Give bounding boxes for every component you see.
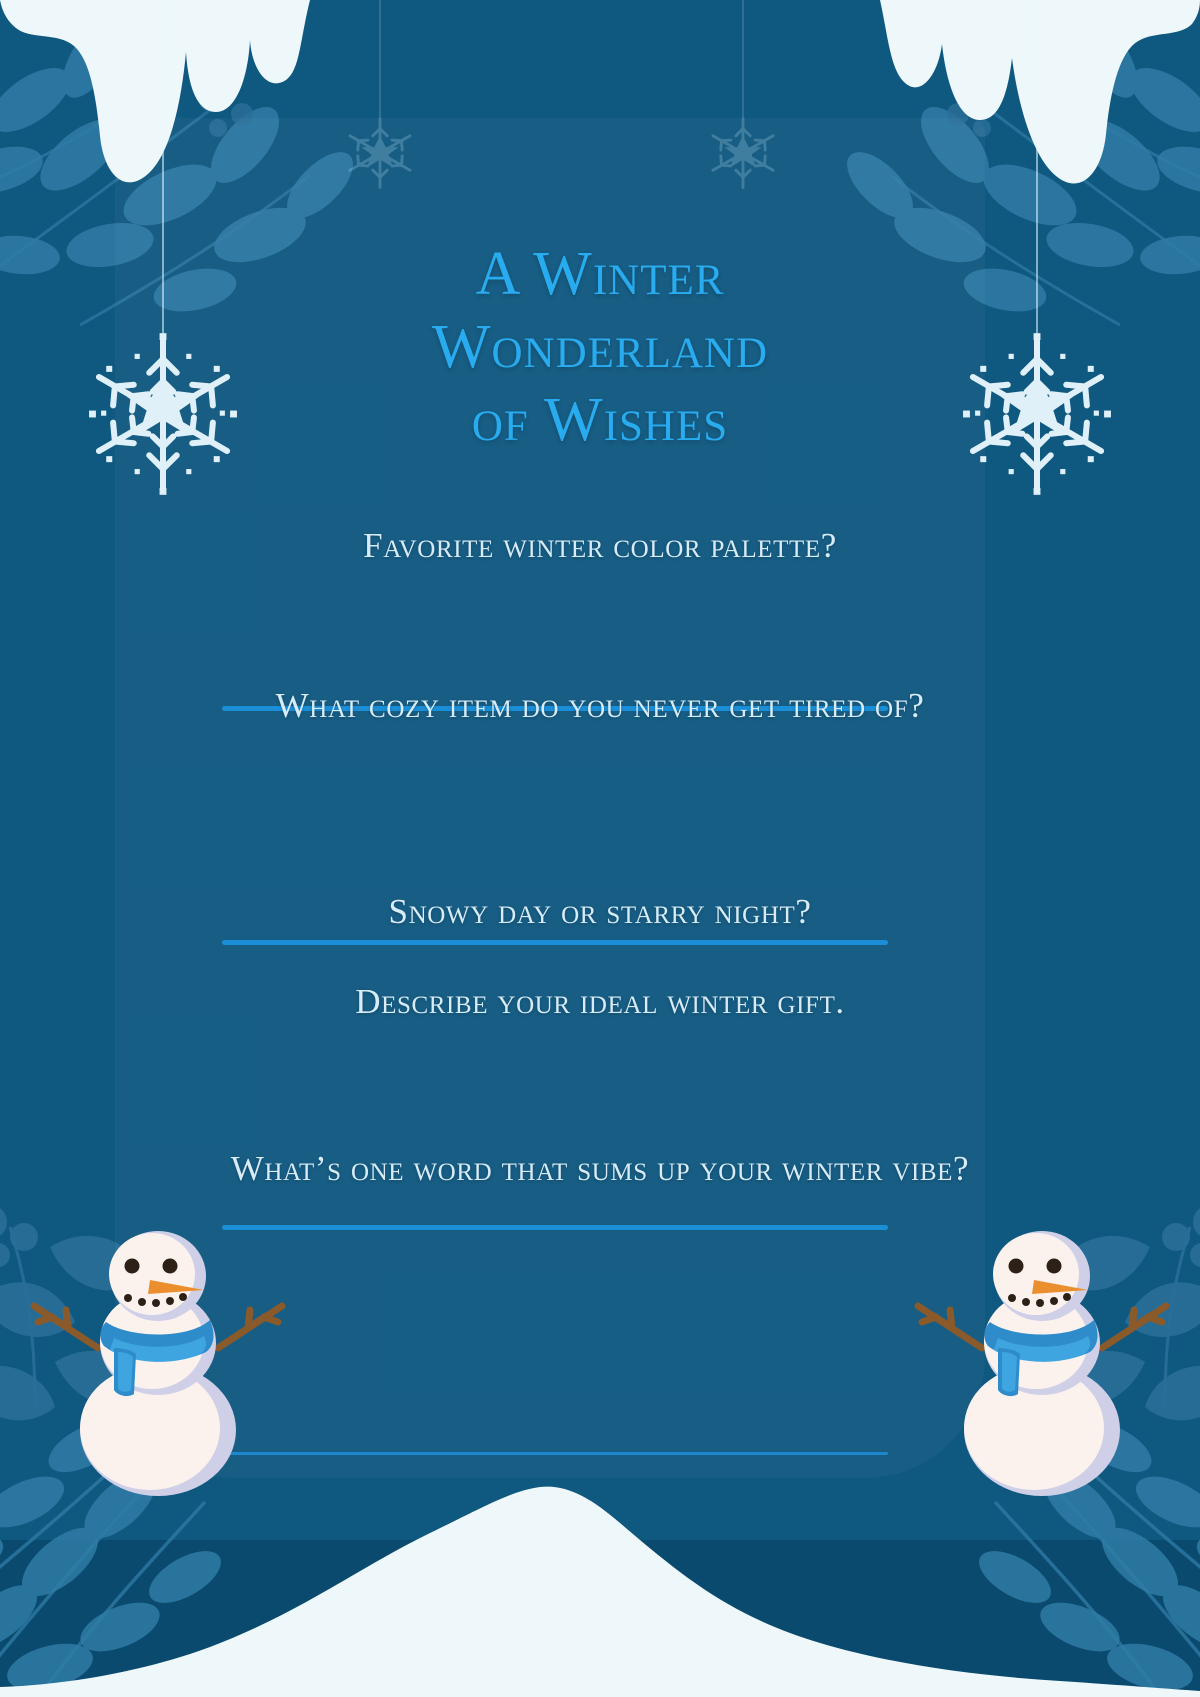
question-4: Describe your ideal winter gift. bbox=[170, 978, 1030, 1025]
ornament-string bbox=[379, 0, 381, 118]
snow-drift-icon bbox=[0, 1437, 1200, 1697]
ornament-string bbox=[162, 0, 164, 340]
question-2: What cozy item do you never get tired of… bbox=[170, 682, 1030, 729]
answer-line-3[interactable] bbox=[222, 1225, 888, 1230]
title-line-3: of Wishes bbox=[180, 384, 1020, 457]
question-1: Favorite winter color palette? bbox=[170, 522, 1030, 569]
snow-drip-icon bbox=[0, 0, 1200, 210]
title-line-1: A Winter bbox=[180, 238, 1020, 311]
question-3: Snowy day or starry night? bbox=[170, 888, 1030, 935]
title-line-2: Wonderland bbox=[180, 311, 1020, 384]
snowflake-icon bbox=[700, 110, 786, 196]
question-5: What’s one word that sums up your winter… bbox=[170, 1145, 1030, 1192]
snowflake-icon bbox=[337, 110, 423, 196]
ornament-string bbox=[1036, 0, 1038, 340]
ornament-string bbox=[742, 0, 744, 118]
answer-line-2[interactable] bbox=[222, 940, 888, 945]
poster-canvas: A Winter Wonderland of Wishes Favorite w… bbox=[0, 0, 1200, 1697]
page-title: A Winter Wonderland of Wishes bbox=[180, 238, 1020, 457]
